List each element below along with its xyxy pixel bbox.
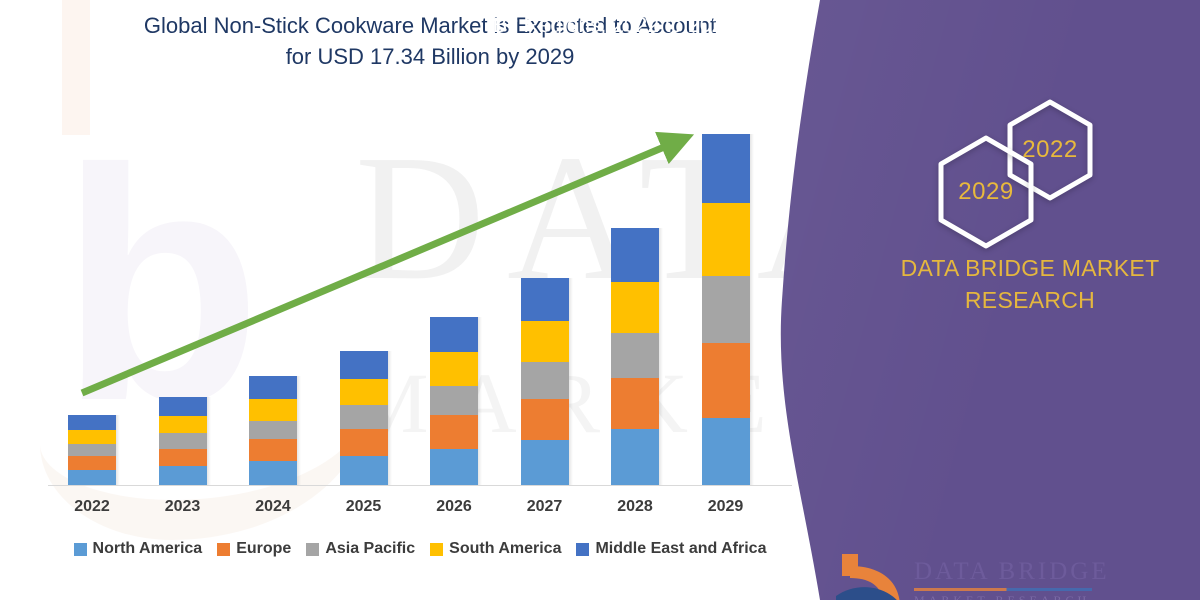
bar-segment[interactable] — [611, 228, 659, 282]
x-axis-label-2029: 2029 — [686, 498, 766, 516]
bar-segment[interactable] — [249, 376, 297, 398]
panel-subtitle-line-1: Global Non-Stick Cookware Market, — [50, 0, 1178, 12]
x-axis-line — [48, 485, 792, 486]
legend-label: South America — [449, 540, 561, 558]
bar-segment[interactable] — [340, 379, 388, 406]
footer-logo: DATA BRIDGE MARKET RESEARCH — [836, 552, 1166, 600]
legend-label: North America — [93, 540, 203, 558]
bar-segment[interactable] — [68, 470, 116, 485]
bar-segment[interactable] — [68, 444, 116, 456]
panel-subtitle-line-2: By Regions, 2022 to 2029 — [50, 12, 1178, 40]
x-axis-label-2025: 2025 — [324, 498, 404, 516]
bar-segment[interactable] — [702, 203, 750, 276]
bar-column[interactable] — [521, 278, 569, 485]
bar-segment[interactable] — [159, 433, 207, 448]
bar-segment[interactable] — [159, 449, 207, 467]
bar-column[interactable] — [702, 134, 750, 485]
bar-column[interactable] — [430, 317, 478, 485]
bar-segment[interactable] — [611, 378, 659, 429]
page-title-line-2: for USD 17.34 Billion by 2029 — [60, 41, 800, 72]
bar-segment[interactable] — [702, 418, 750, 485]
legend-label: Europe — [236, 540, 291, 558]
legend-label: Asia Pacific — [325, 540, 415, 558]
bar-segment[interactable] — [340, 456, 388, 485]
legend-label: Middle East and Africa — [595, 540, 766, 558]
x-axis-label-2028: 2028 — [595, 498, 675, 516]
bar-segment[interactable] — [521, 362, 569, 398]
bar-column[interactable] — [68, 415, 116, 485]
legend-swatch-icon — [430, 543, 443, 556]
bar-segment[interactable] — [611, 429, 659, 485]
bar-segment[interactable] — [430, 352, 478, 386]
growth-trend-arrow — [40, 100, 800, 490]
x-axis-labels: 20222023202420252026202720282029 — [40, 498, 800, 522]
bar-shadow — [297, 376, 301, 485]
bar-segment[interactable] — [430, 317, 478, 352]
bar-segment[interactable] — [249, 461, 297, 485]
bar-segment[interactable] — [249, 421, 297, 440]
bar-segment[interactable] — [340, 405, 388, 429]
bar-segment[interactable] — [68, 456, 116, 470]
bar-segment[interactable] — [68, 430, 116, 444]
legend-item[interactable]: North America — [74, 540, 203, 558]
brand-name-line-1: DATA BRIDGE MARKET — [880, 252, 1180, 284]
x-axis-label-2026: 2026 — [414, 498, 494, 516]
bar-segment[interactable] — [159, 416, 207, 434]
bar-segment[interactable] — [430, 415, 478, 449]
bar-column[interactable] — [249, 376, 297, 485]
bar-segment[interactable] — [340, 351, 388, 379]
bar-shadow — [478, 317, 482, 485]
bar-segment[interactable] — [340, 429, 388, 456]
hexagon-end-year: 2029 — [934, 134, 1038, 250]
bar-segment[interactable] — [430, 386, 478, 415]
legend-swatch-icon — [306, 543, 319, 556]
footer-logo-text: DATA BRIDGE MARKET RESEARCH — [914, 558, 1110, 600]
bar-segment[interactable] — [68, 415, 116, 430]
bar-segment[interactable] — [702, 276, 750, 343]
legend-swatch-icon — [74, 543, 87, 556]
x-axis-label-2027: 2027 — [505, 498, 585, 516]
bar-shadow — [116, 415, 120, 485]
hexagon-end-year-label: 2029 — [934, 134, 1038, 250]
stacked-bar-chart — [40, 100, 800, 490]
legend-swatch-icon — [217, 543, 230, 556]
bar-shadow — [388, 351, 392, 486]
footer-logo-title: DATA BRIDGE — [914, 558, 1110, 586]
footer-logo-subtitle: MARKET RESEARCH — [914, 593, 1110, 600]
bar-segment[interactable] — [702, 134, 750, 203]
bar-shadow — [569, 278, 573, 485]
bar-column[interactable] — [159, 397, 207, 485]
bar-column[interactable] — [340, 351, 388, 486]
legend-item[interactable]: South America — [430, 540, 561, 558]
bar-segment[interactable] — [159, 466, 207, 485]
legend-item[interactable]: Middle East and Africa — [576, 540, 766, 558]
bar-segment[interactable] — [430, 449, 478, 485]
bar-segment[interactable] — [521, 399, 569, 440]
x-axis-label-2022: 2022 — [52, 498, 132, 516]
bar-shadow — [659, 228, 663, 485]
x-axis-label-2023: 2023 — [143, 498, 223, 516]
brand-name: DATA BRIDGE MARKET RESEARCH — [880, 252, 1180, 316]
brand-name-line-2: RESEARCH — [880, 284, 1180, 316]
bar-shadow — [750, 134, 754, 485]
bar-segment[interactable] — [611, 282, 659, 333]
legend-item[interactable]: Asia Pacific — [306, 540, 415, 558]
bar-segment[interactable] — [159, 397, 207, 415]
infographic-canvas: b DATA BRI MARKET RE Global Non-Stick Co… — [0, 0, 1200, 600]
legend-item[interactable]: Europe — [217, 540, 291, 558]
bar-segment[interactable] — [521, 440, 569, 485]
bar-shadow — [207, 397, 211, 485]
bar-segment[interactable] — [249, 439, 297, 461]
x-axis-label-2024: 2024 — [233, 498, 313, 516]
bar-segment[interactable] — [521, 321, 569, 362]
bar-segment[interactable] — [249, 399, 297, 421]
data-bridge-b-logo-icon — [836, 552, 908, 600]
legend-swatch-icon — [576, 543, 589, 556]
bar-segment[interactable] — [521, 278, 569, 321]
bar-segment[interactable] — [611, 333, 659, 378]
footer-logo-rule — [914, 588, 1092, 591]
panel-subtitle: Global Non-Stick Cookware Market, By Reg… — [50, 0, 1178, 40]
chart-legend: North AmericaEuropeAsia PacificSouth Ame… — [40, 540, 800, 558]
bar-segment[interactable] — [702, 343, 750, 419]
bar-column[interactable] — [611, 228, 659, 485]
